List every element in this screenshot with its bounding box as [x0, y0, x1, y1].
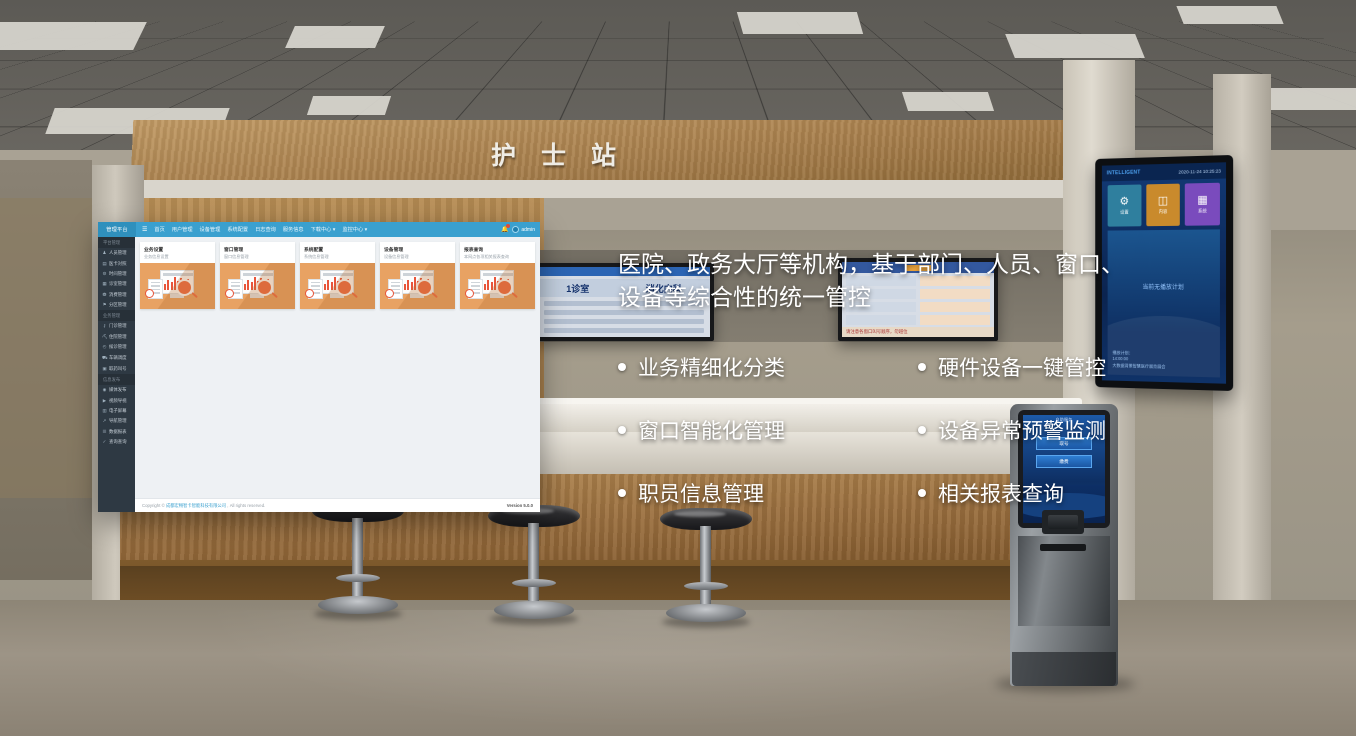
queue-line: [544, 328, 704, 333]
signage-tile-system[interactable]: ▦ 系统: [1185, 183, 1220, 226]
ceiling-light: [902, 92, 994, 111]
marketing-headline: 医院、政务大厅等机构，基于部门、人员、窗口、 设备等综合性的统一管控: [618, 248, 1208, 315]
bullet-dot-icon: [618, 363, 626, 371]
admin-footer: Copyright © 成都宏畅智卡智能科技有限公司 , All rights …: [135, 498, 540, 512]
sidebar-group-label: 信息发布: [98, 374, 135, 385]
version-label: Version 5.0.0: [507, 503, 533, 508]
user-name: admin: [521, 227, 535, 233]
sidebar-item-电子屏幕[interactable]: ▥电子屏幕: [98, 406, 135, 416]
cart-icon: ⛃: [102, 292, 107, 298]
card-subtitle: 业务信息设置: [144, 254, 211, 260]
feature-card-grid: 业务设置业务信息设置窗口管理窗口信息管理系统配置系统信息管理设备管理设备信息管理…: [135, 237, 540, 314]
check-icon: ✓: [102, 439, 107, 445]
admin-header: 管理平台 ☰ 首页 用户管理 设备管理 系统配置 日志查询 服务信息 下载中心 …: [98, 222, 540, 237]
headline-line-2: 设备等综合性的统一管控: [618, 281, 1208, 314]
copyright-prefix: Copyright ©: [142, 503, 166, 508]
card-header: 设备管理设备信息管理: [380, 242, 455, 263]
card-subtitle: 窗口信息管理: [224, 254, 291, 260]
sidebar-item-label: 导航管理: [109, 418, 127, 424]
gear-icon: ⚙: [102, 271, 107, 277]
admin-body: 平台管理♟人员管理▤医卡对照⚙时间管理▦诊室管理⛃消费管理⚑分区管理业务管理⚷门…: [98, 237, 540, 512]
sidebar-item-门诊管理[interactable]: ⚷门诊管理: [98, 321, 135, 331]
signage-logo: INTELLIGENT: [1107, 170, 1141, 177]
gear-icon: ⚙: [1120, 196, 1130, 207]
feature-bullet: 设备异常预警监测: [918, 415, 1218, 445]
analytics-illustration: [380, 263, 455, 309]
card-title: 系统配置: [304, 246, 371, 253]
bullet-label: 相关报表查询: [938, 478, 1064, 508]
admin-content: 业务设置业务信息设置窗口管理窗口信息管理系统配置系统信息管理设备管理设备信息管理…: [135, 237, 540, 512]
nav-item-users[interactable]: 用户管理: [172, 226, 193, 233]
admin-platform-window[interactable]: 管理平台 ☰ 首页 用户管理 设备管理 系统配置 日志查询 服务信息 下载中心 …: [98, 222, 540, 512]
left-wall-accent: [0, 198, 92, 498]
key-icon: ⚷: [102, 323, 107, 329]
nav-item-monitor[interactable]: 监控中心 ▾: [342, 226, 367, 233]
diagonal-shade: [460, 263, 535, 309]
form-icon: ▦: [102, 281, 107, 287]
sidebar-item-label: 住院管理: [109, 334, 127, 340]
feature-card-报表查询[interactable]: 报表查询本网点各项相关报表查询: [460, 242, 535, 309]
stool-post: [700, 526, 711, 612]
card-title: 窗口管理: [224, 246, 291, 253]
card-title: 业务设置: [144, 246, 211, 253]
bullet-dot-icon: [618, 489, 626, 497]
signage-tile-label: 设置: [1120, 209, 1128, 215]
bullet-dot-icon: [918, 363, 926, 371]
feature-card-窗口管理[interactable]: 窗口管理窗口信息管理: [220, 242, 295, 309]
card-header: 窗口管理窗口信息管理: [220, 242, 295, 263]
card-subtitle: 设备信息管理: [384, 254, 451, 260]
stool-post: [528, 523, 539, 609]
feature-card-系统配置[interactable]: 系统配置系统信息管理: [300, 242, 375, 309]
sidebar-item-车辆调度[interactable]: ⛟车辆调度: [98, 352, 135, 363]
board-icon: ▥: [102, 408, 107, 414]
copyright-text: Copyright © 成都宏畅智卡智能科技有限公司 , All rights …: [142, 503, 265, 509]
sidebar-item-分区管理[interactable]: ⚑分区管理: [98, 300, 135, 310]
sidebar-group-label: 平台管理: [98, 237, 135, 248]
sidebar-item-人员管理[interactable]: ♟人员管理: [98, 248, 135, 258]
signage-tile-label: 内容: [1159, 208, 1168, 214]
bullet-label: 窗口智能化管理: [638, 415, 785, 445]
sidebar-item-导航管理[interactable]: ↗导航管理: [98, 416, 135, 426]
stool-base: [666, 604, 746, 622]
signage-tile-label: 系统: [1198, 208, 1207, 214]
calling-cell: [920, 315, 990, 325]
stool-base: [318, 596, 398, 614]
room-number: 1诊室: [566, 282, 589, 295]
sidebar-item-label: 车辆调度: [109, 355, 127, 361]
sidebar-item-时间管理[interactable]: ⚙时间管理: [98, 269, 135, 279]
sidebar-item-视频导视[interactable]: ▶视频导视: [98, 396, 135, 406]
stool-base: [494, 601, 574, 619]
bullet-label: 硬件设备一键管控: [938, 352, 1106, 382]
stool-footrest: [336, 574, 380, 582]
nav-item-download[interactable]: 下载中心 ▾: [311, 226, 336, 233]
card-subtitle: 系统信息管理: [304, 254, 371, 260]
card-header: 系统配置系统信息管理: [300, 242, 375, 263]
sidebar-group-label: 业务管理: [98, 310, 135, 321]
sidebar-item-消费管理[interactable]: ⛃消费管理: [98, 290, 135, 300]
sidebar-item-候诊管理[interactable]: ◴候诊管理: [98, 342, 135, 352]
signage-tile-content[interactable]: ◫ 内容: [1146, 184, 1180, 227]
stool-footrest: [512, 579, 556, 587]
feature-card-业务设置[interactable]: 业务设置业务信息设置: [140, 242, 215, 309]
bullet-dot-icon: [618, 426, 626, 434]
bullet-label: 设备异常预警监测: [938, 415, 1106, 445]
sidebar-item-label: 取药叫号: [109, 366, 127, 372]
route-icon: ↗: [102, 418, 107, 424]
sidebar-item-label: 门诊管理: [109, 323, 127, 329]
sidebar-item-label: 人员管理: [109, 250, 127, 256]
sidebar-item-媒体发布[interactable]: ◉媒体发布: [98, 385, 135, 395]
user-avatar-icon: [512, 226, 519, 233]
card-reader-surface: [1048, 515, 1078, 529]
nav-item-logs[interactable]: 日志查询: [255, 226, 276, 233]
signage-tiles: ⚙ 设置 ◫ 内容 ▦ 系统: [1108, 183, 1220, 227]
diagonal-shade: [300, 263, 375, 309]
sidebar-item-label: 诊室管理: [109, 281, 127, 287]
admin-sidebar[interactable]: 平台管理♟人员管理▤医卡对照⚙时间管理▦诊室管理⛃消费管理⚑分区管理业务管理⚷门…: [98, 237, 135, 512]
card-subtitle: 本网点各项相关报表查询: [464, 254, 531, 260]
box-icon: ◫: [1158, 195, 1168, 206]
nav-item-home[interactable]: 首页: [154, 226, 164, 233]
sidebar-item-住院管理[interactable]: ⛏住院管理: [98, 332, 135, 342]
room-sign: 护 士 站: [478, 136, 638, 172]
queue-line: [544, 319, 704, 324]
content-canvas: [135, 314, 540, 498]
diagonal-shade: [220, 263, 295, 309]
feature-bullet: 窗口智能化管理: [618, 415, 918, 445]
sidebar-item-label: 电子屏幕: [109, 408, 127, 414]
feature-bullet-list: 业务精细化分类 硬件设备一键管控 窗口智能化管理 设备异常预警监测 职员信息管理…: [618, 352, 1218, 508]
soffit-underside: [132, 180, 1112, 198]
analytics-illustration: [140, 263, 215, 309]
bullet-label: 业务精细化分类: [638, 352, 785, 382]
card-title: 报表查询: [464, 246, 531, 253]
ceiling-light: [1005, 34, 1145, 58]
card-icon: ▤: [102, 261, 107, 267]
sidebar-item-label: 媒体发布: [109, 387, 127, 393]
sidebar-item-查询查询[interactable]: ✓查询查询: [98, 437, 135, 447]
nav-item-service[interactable]: 服务信息: [283, 226, 304, 233]
feature-bullet: 相关报表查询: [918, 478, 1218, 508]
sidebar-item-label: 候诊管理: [109, 344, 127, 350]
sidebar-item-诊室管理[interactable]: ▦诊室管理: [98, 279, 135, 289]
sidebar-item-label: 查询查询: [109, 439, 127, 445]
analytics-illustration: [300, 263, 375, 309]
sidebar-item-label: 数据报表: [109, 429, 127, 435]
sidebar-item-label: 视频导视: [109, 398, 127, 404]
video-icon: ▶: [102, 398, 107, 404]
box-icon: ▣: [102, 366, 107, 372]
analytics-illustration: [220, 263, 295, 309]
card-header: 业务设置业务信息设置: [140, 242, 215, 263]
ceiling-light: [1176, 6, 1283, 24]
kiosk-card-reader[interactable]: [1042, 510, 1084, 534]
sidebar-item-医卡对照[interactable]: ▤医卡对照: [98, 258, 135, 268]
sidebar-item-label: 分区管理: [109, 302, 127, 308]
signage-datetime: 2020-11-24 10:25:23: [1178, 168, 1220, 174]
admin-header-right: 🔔 admin: [501, 226, 540, 234]
bell-icon[interactable]: 🔔: [501, 226, 508, 234]
floor-light-reflection: [200, 610, 1100, 730]
ceiling-light: [285, 26, 385, 48]
headline-line-1: 医院、政务大厅等机构，基于部门、人员、窗口、: [618, 248, 1208, 281]
kiosk-foot: [1012, 652, 1116, 686]
nav-item-devices[interactable]: 设备管理: [200, 226, 221, 233]
pin-icon: ⚑: [102, 302, 107, 308]
user-icon: ♟: [102, 250, 107, 256]
feature-card-设备管理[interactable]: 设备管理设备信息管理: [380, 242, 455, 309]
signage-tile-settings[interactable]: ⚙ 设置: [1108, 184, 1141, 226]
footer-note: 请注意各窗口叫号顺序，勿越位: [846, 329, 907, 335]
feature-bullet: 硬件设备一键管控: [918, 352, 1218, 382]
sidebar-item-label: 消费管理: [109, 292, 127, 298]
sidebar-item-label: 时间管理: [109, 271, 127, 277]
sidebar-item-数据报表[interactable]: ☰数据报表: [98, 427, 135, 437]
clock-icon: ◴: [102, 344, 107, 350]
kiosk-ticket-slot: [1040, 544, 1086, 551]
ceiling-light: [307, 96, 391, 115]
sidebar-item-label: 医卡对照: [109, 261, 127, 267]
user-menu[interactable]: admin: [512, 226, 535, 233]
stool-post: [352, 518, 363, 604]
calling-cell: [846, 315, 916, 325]
bullet-dot-icon: [918, 426, 926, 434]
bed-icon: ⛏: [102, 334, 107, 340]
admin-nav: ☰ 首页 用户管理 设备管理 系统配置 日志查询 服务信息 下载中心 ▾ 监控中…: [136, 226, 501, 233]
hospital-nurse-station-scene: 护 士 站 1诊室 消化内科: [0, 0, 1356, 736]
card-header: 报表查询本网点各项相关报表查询: [460, 242, 535, 263]
feature-bullet: 职员信息管理: [618, 478, 918, 508]
calling-board-footer: 请注意各窗口叫号顺序，勿越位: [842, 327, 994, 337]
diagonal-shade: [140, 263, 215, 309]
ceiling-light: [737, 12, 863, 34]
bullet-label: 职员信息管理: [638, 478, 764, 508]
nav-item-config[interactable]: 系统配置: [227, 226, 248, 233]
globe-icon: ◉: [102, 387, 107, 393]
sidebar-item-取药叫号[interactable]: ▣取药叫号: [98, 364, 135, 374]
stool-footrest: [684, 582, 728, 590]
seat-highlight: [674, 511, 726, 517]
grid-icon: ▦: [1197, 195, 1207, 206]
company-link[interactable]: 成都宏畅智卡智能科技有限公司: [166, 503, 226, 508]
admin-brand[interactable]: 管理平台: [98, 222, 136, 237]
notification-badge: [506, 224, 510, 228]
diagonal-shade: [380, 263, 455, 309]
copyright-suffix: , All rights reserved.: [226, 503, 265, 508]
bullet-dot-icon: [918, 489, 926, 497]
feature-bullet: 业务精细化分类: [618, 352, 918, 382]
car-icon: ⛟: [102, 355, 107, 362]
signage-topbar: INTELLIGENT 2020-11-24 10:25:23: [1102, 162, 1226, 181]
chart-icon: ☰: [102, 429, 107, 435]
ceiling-light: [0, 22, 147, 50]
analytics-illustration: [460, 263, 535, 309]
menu-icon[interactable]: ☰: [142, 226, 147, 233]
card-title: 设备管理: [384, 246, 451, 253]
